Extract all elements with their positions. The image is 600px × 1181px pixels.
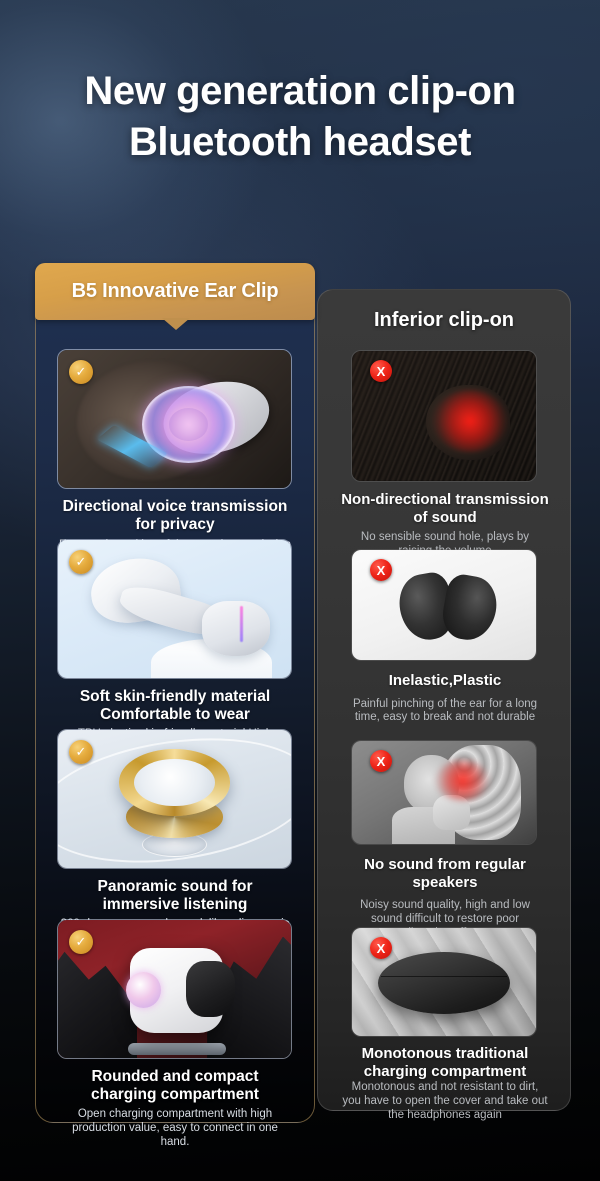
right-row-1-title: Non-directional transmission of sound [340,491,550,526]
right-column-header: Inferior clip-on [317,300,571,340]
x-icon: X [370,360,392,382]
check-icon: ✓ [69,740,93,764]
left-row-3-title: Panoramic sound for immersive listening [57,878,293,914]
x-icon: X [370,937,392,959]
right-row-4-subtitle: Monotonous and not resistant to dirt, yo… [342,1081,548,1122]
right-row-4-image: X [351,927,537,1037]
right-row-2: X Inelastic,Plastic Painful pinching of … [351,549,539,725]
left-row-4-subtitle: Open charging compartment with high prod… [57,1108,293,1149]
check-icon: ✓ [69,360,93,384]
infographic-page: New generation clip-on Bluetooth headset… [0,0,600,1181]
left-row-1-title: Directional voice transmission for priva… [57,498,293,534]
right-row-4: X Monotonous traditional charging compar… [351,927,539,1122]
right-row-4-title: Monotonous traditional charging compartm… [351,1045,539,1080]
banner-pointer-tail [162,318,190,330]
comparison-columns: B5 Innovative Ear Clip ✓ Directional voi… [0,0,600,1181]
x-icon: X [370,559,392,581]
left-row-4: ✓ Rounded and compact charging compartme… [57,919,293,1150]
left-row-2-title: Soft skin-friendly material Comfortable … [57,688,293,724]
left-row-2-image: ✓ [57,539,292,679]
left-column-header-label: B5 Innovative Ear Clip [72,280,279,303]
left-column-header-banner: B5 Innovative Ear Clip [35,263,315,320]
right-row-2-image: X [351,549,537,661]
left-row-2: ✓ Soft skin-friendly material Comfortabl… [57,539,293,756]
right-row-2-subtitle: Painful pinching of the ear for a long t… [351,698,539,726]
left-row-3-image: ✓ [57,729,292,869]
left-row-1: ✓ Directional voice transmission for pri… [57,349,293,567]
right-row-2-title: Inelastic,Plastic [351,672,539,690]
check-icon: ✓ [69,930,93,954]
right-row-3-title: No sound from regular speakers [341,856,549,891]
check-icon: ✓ [69,550,93,574]
right-column-header-label: Inferior clip-on [374,309,514,332]
left-row-4-image: ✓ [57,919,292,1059]
left-row-4-title: Rounded and compact charging compartment [57,1068,293,1104]
left-row-1-image: ✓ [57,349,292,489]
right-row-1-image: X [351,350,537,482]
x-icon: X [370,750,392,772]
right-row-1: X Non-directional transmission of sound … [351,350,539,559]
right-row-3: X No sound from regular speakers Noisy s… [351,740,539,940]
left-row-3: ✓ Panoramic sound for immersive listenin… [57,729,293,946]
right-row-3-image: X [351,740,537,845]
